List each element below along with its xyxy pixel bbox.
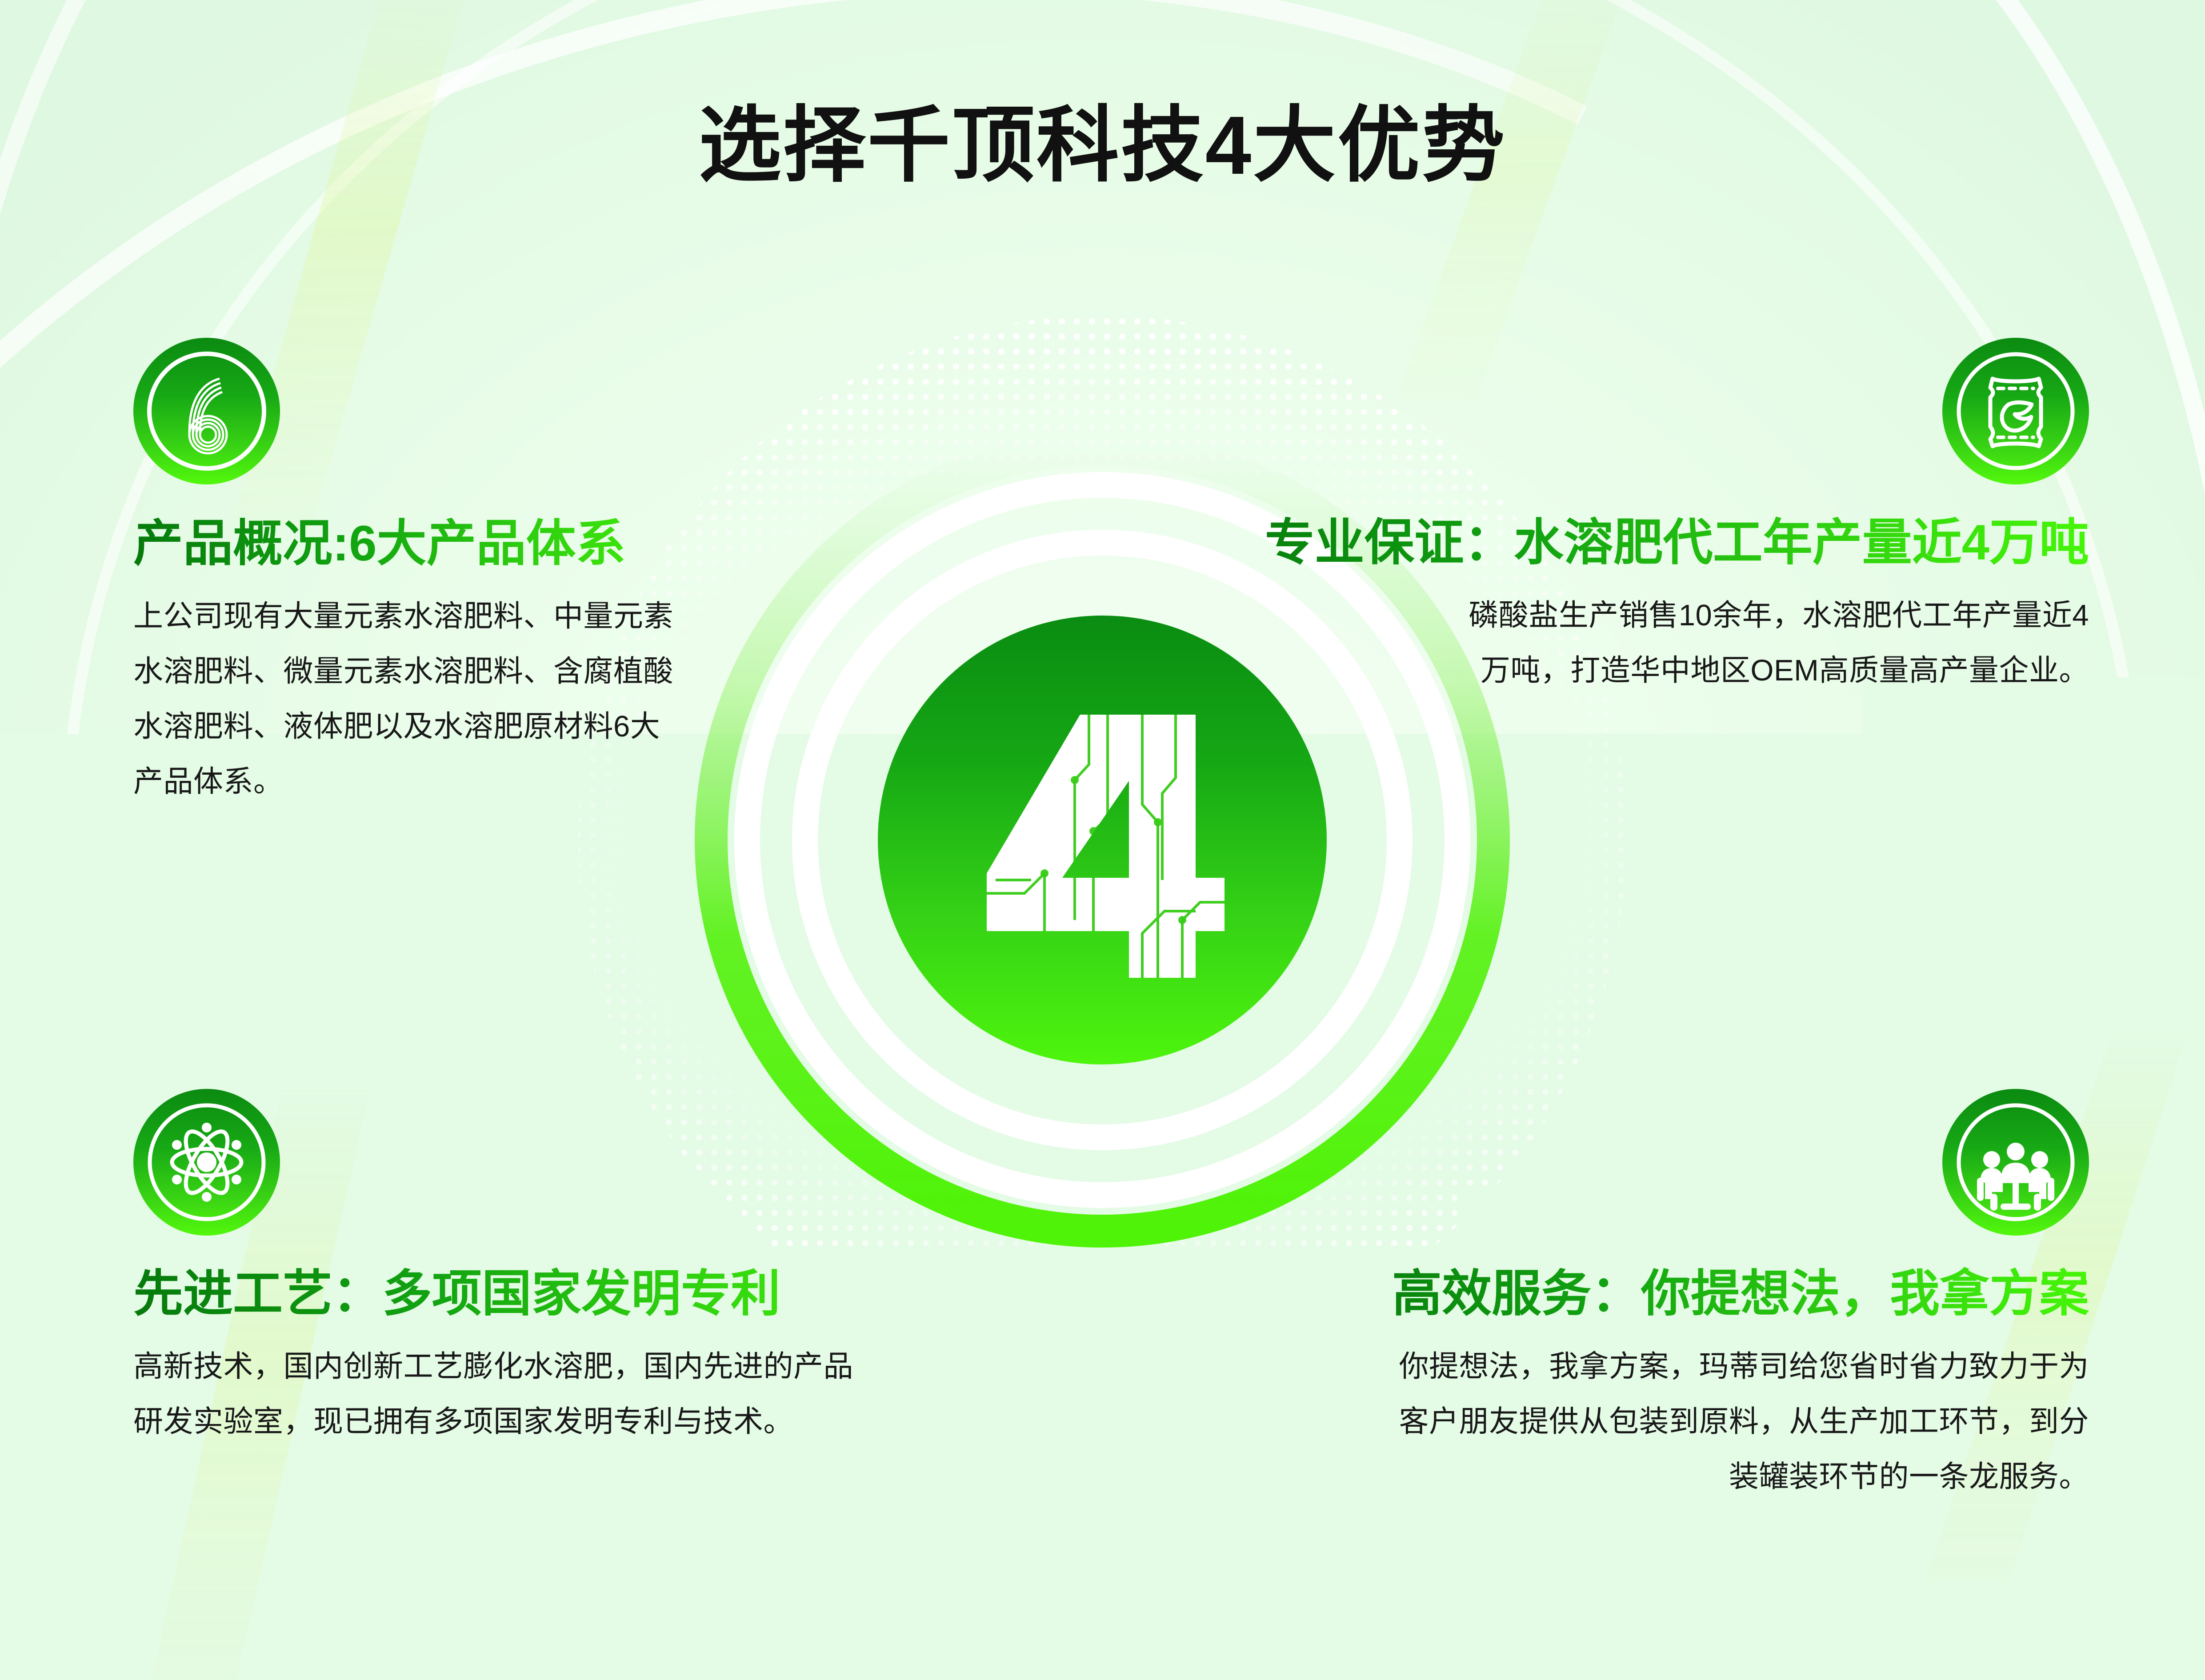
feature-heading: 先进工艺：多项国家发明专利 <box>133 1266 916 1321</box>
feature-bottom-left: 先进工艺：多项国家发明专利 高新技术，国内创新工艺膨化水溶肥，国内先进的产品研发… <box>133 1089 916 1449</box>
page-title: 选择千顶科技4大优势 <box>0 104 2205 187</box>
feature-bottom-right: 高效服务：你提想法，我拿方案 你提想法，我拿方案，玛蒂司给您省时省力致力于为客户… <box>1316 1089 2089 1504</box>
feature-heading: 高效服务：你提想法，我拿方案 <box>1316 1266 2089 1321</box>
feature-body: 上公司现有大量元素水溶肥料、中量元素水溶肥料、微量元素水溶肥料、含腐植酸水溶肥料… <box>133 589 680 809</box>
fertilizer-bag-icon <box>1942 338 2089 484</box>
atom-icon <box>133 1089 280 1236</box>
feature-body: 磷酸盐生产销售10余年，水溶肥代工年产量近4万吨，打造华中地区OEM高质量高产量… <box>1440 588 2089 698</box>
feature-top-left: 产品概况:6大产品体系 上公司现有大量元素水溶肥料、中量元素水溶肥料、微量元素水… <box>133 338 707 809</box>
center-number-four-icon <box>933 671 1271 1009</box>
feature-heading: 产品概况:6大产品体系 <box>133 516 707 571</box>
feature-top-right: 专业保证：水溶肥代工年产量近4万吨 磷酸盐生产销售10余年，水溶肥代工年产量近4… <box>1196 338 2089 698</box>
number-six-rings-icon <box>133 338 280 484</box>
infographic-canvas: 选择千顶科技4大优势 <box>0 0 2205 1680</box>
feature-heading: 专业保证：水溶肥代工年产量近4万吨 <box>1196 515 2089 570</box>
feature-body: 高新技术，国内创新工艺膨化水溶肥，国内先进的产品研发实验室，现已拥有多项国家发明… <box>133 1339 871 1449</box>
meeting-table-icon <box>1942 1089 2089 1236</box>
feature-body: 你提想法，我拿方案，玛蒂司给您省时省力致力于为客户朋友提供从包装到原料，从生产加… <box>1378 1339 2089 1504</box>
